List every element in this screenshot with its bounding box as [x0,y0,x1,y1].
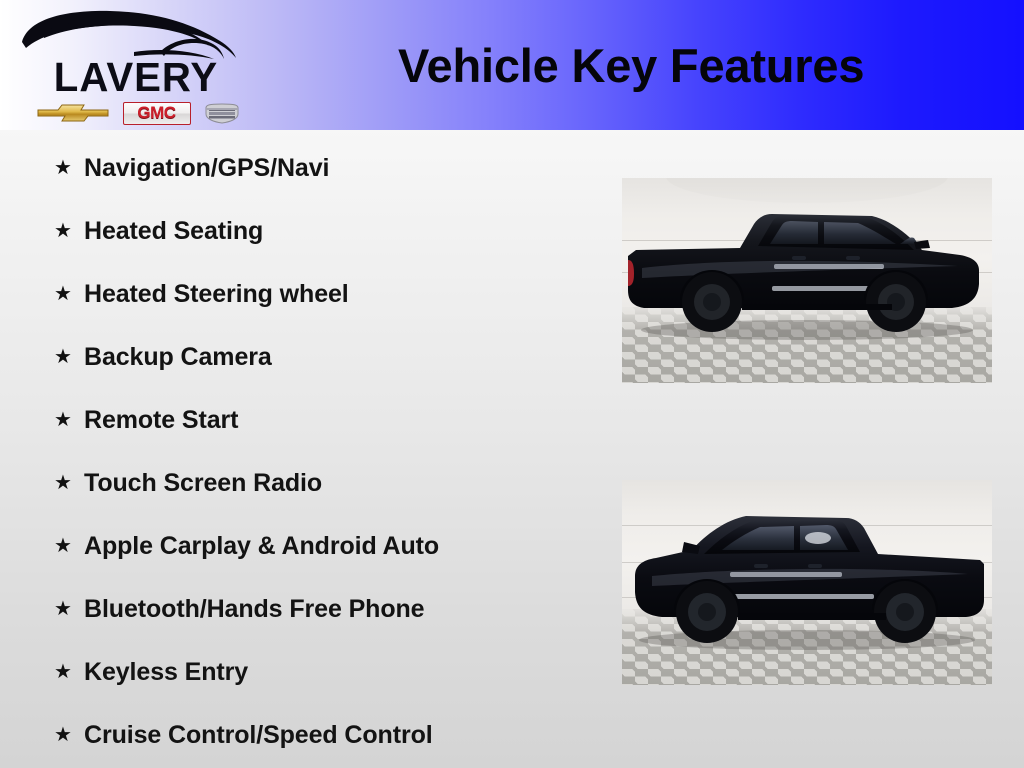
feature-label: Keyless Entry [84,657,248,687]
feature-item: ★ Touch Screen Radio [40,451,640,514]
star-bullet-icon: ★ [54,473,84,493]
feature-label: Cruise Control/Speed Control [84,720,433,750]
star-bullet-icon: ★ [54,347,84,367]
pickup-truck-passenger-side-icon [622,178,992,383]
pickup-truck-driver-side-icon [622,480,992,685]
page-header: LAVERY GMC [0,0,1024,130]
feature-item: ★ Heated Steering wheel [40,262,640,325]
feature-item: ★ Keyless Entry [40,640,640,703]
feature-item: ★ Bluetooth/Hands Free Phone [40,577,640,640]
chevrolet-bowtie-icon [36,102,110,124]
vehicle-feature-list: ★ Navigation/GPS/Navi ★ Heated Seating ★… [0,130,640,766]
feature-item: ★ Apple Carplay & Android Auto [40,514,640,577]
feature-label: Remote Start [84,405,238,435]
star-bullet-icon: ★ [54,158,84,178]
cadillac-crest-icon [203,102,241,124]
star-bullet-icon: ★ [54,599,84,619]
feature-item: ★ Heated Seating [40,199,640,262]
main-content: ★ Navigation/GPS/Navi ★ Heated Seating ★… [0,130,1024,768]
feature-label: Heated Steering wheel [84,279,349,309]
feature-item: ★ Navigation/GPS/Navi [40,136,640,199]
brand-badges: GMC [36,100,241,126]
vehicle-photo-driver-side[interactable] [622,480,992,685]
feature-item: ★ Remote Start [40,388,640,451]
gmc-badge: GMC [123,102,191,125]
dealer-wordmark: LAVERY [22,56,249,98]
star-bullet-icon: ★ [54,221,84,241]
feature-label: Bluetooth/Hands Free Phone [84,594,424,624]
feature-label: Backup Camera [84,342,272,372]
star-bullet-icon: ★ [54,725,84,745]
feature-item: ★ Backup Camera [40,325,640,388]
feature-label: Navigation/GPS/Navi [84,153,329,183]
feature-label: Touch Screen Radio [84,468,322,498]
star-bullet-icon: ★ [54,410,84,430]
page-title: Vehicle Key Features [398,38,864,94]
feature-label: Heated Seating [84,216,263,246]
star-bullet-icon: ★ [54,284,84,304]
star-bullet-icon: ★ [54,662,84,682]
feature-item: ★ Cruise Control/Speed Control [40,703,640,766]
feature-label: Apple Carplay & Android Auto [84,531,439,561]
dealer-logo[interactable]: LAVERY GMC [14,8,252,123]
star-bullet-icon: ★ [54,536,84,556]
vehicle-photo-passenger-side[interactable] [622,178,992,383]
